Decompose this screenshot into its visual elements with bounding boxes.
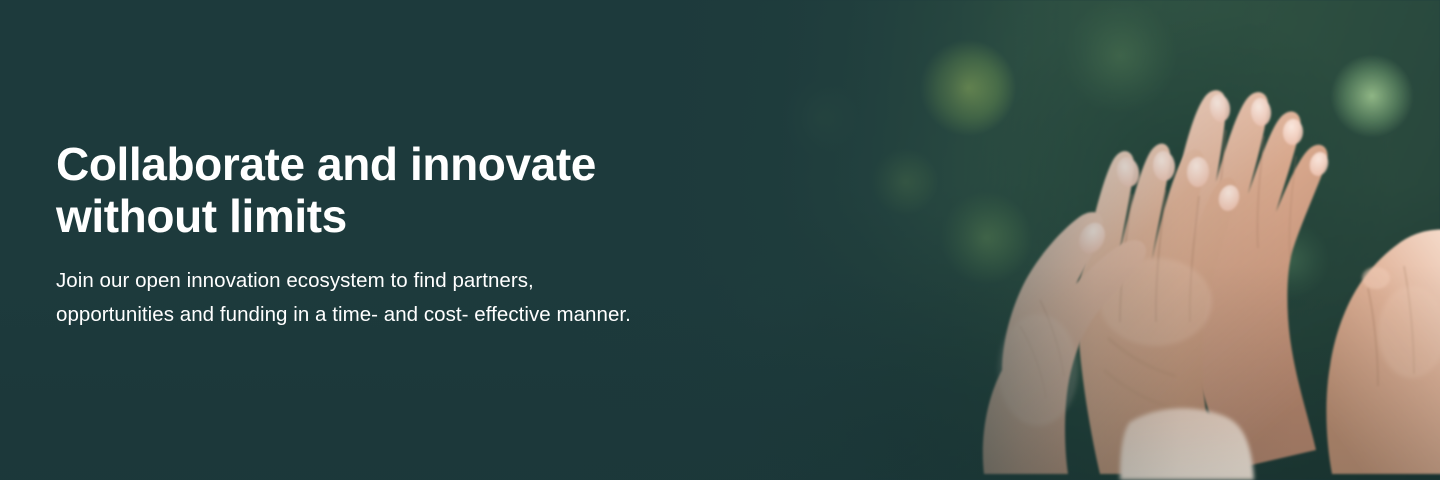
banner-headline: Collaborate and innovate without limits [56, 138, 876, 242]
subcopy-line-2: opportunities and funding in a time- and… [56, 298, 876, 332]
hand-right [1326, 230, 1440, 474]
headline-line-1: Collaborate and innovate [56, 138, 876, 190]
banner-content: Collaborate and innovate without limits … [56, 138, 876, 332]
headline-line-2: without limits [56, 190, 876, 242]
raised-hands-photo [980, 70, 1440, 480]
subcopy-line-1: Join our open innovation ecosystem to fi… [56, 264, 876, 298]
banner-subcopy: Join our open innovation ecosystem to fi… [56, 264, 876, 332]
hero-banner: Collaborate and innovate without limits … [0, 0, 1440, 480]
